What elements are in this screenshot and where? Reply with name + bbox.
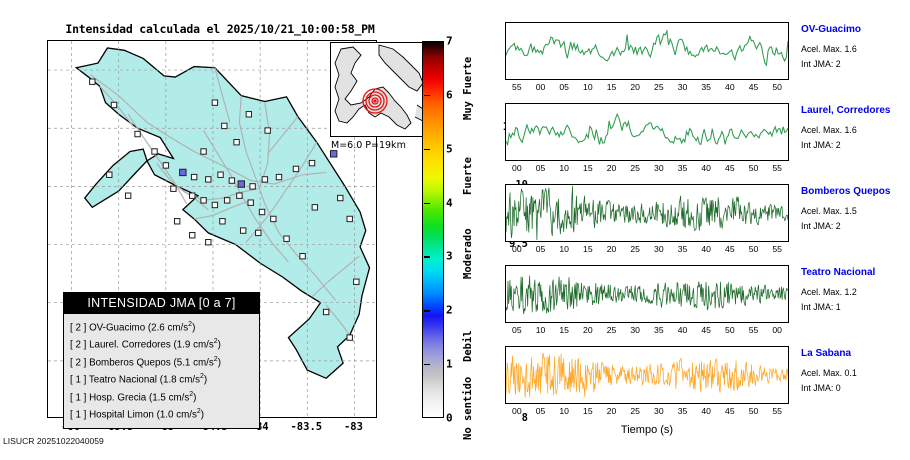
- waveform-x-tick: 00: [512, 244, 522, 254]
- waveform-panel[interactable]: [505, 346, 789, 404]
- legend-row-close: ): [218, 340, 221, 351]
- waveform-x-tick: 45: [749, 82, 759, 92]
- legend-row-close: ): [204, 375, 207, 386]
- waveform-x-tick: 35: [654, 325, 664, 335]
- legend-row-close: ): [193, 392, 196, 403]
- waveform-jma-intensity: Int JMA: 1: [801, 302, 841, 312]
- waveform-x-axis-label: Tiempo (s): [505, 424, 789, 436]
- legend-row-station: Hosp. Grecia: [86, 392, 146, 403]
- inset-graphic: [331, 43, 424, 136]
- legend-row-close: ): [192, 322, 195, 333]
- waveform-x-tick: 25: [630, 163, 640, 173]
- colorbar-tick: 7: [446, 35, 453, 48]
- waveform-x-tick: 55: [772, 406, 782, 416]
- waveform-trace: [506, 347, 788, 403]
- waveform-x-tick: 55: [772, 163, 782, 173]
- colorbar-tick: 1: [446, 358, 453, 371]
- waveform-x-tick: 45: [725, 244, 735, 254]
- waveform-jma-intensity: Int JMA: 2: [801, 140, 841, 150]
- legend-row-accel: (1.8 cm/s: [157, 375, 200, 386]
- map-y-tick: 8: [522, 412, 528, 424]
- legend-row-jma: [ 1 ]: [70, 375, 86, 386]
- waveform-x-tick: 55: [772, 244, 782, 254]
- waveform-x-tick: 10: [559, 244, 569, 254]
- waveform-x-tick: 20: [630, 82, 640, 92]
- waveform-jma-intensity: Int JMA: 2: [801, 59, 841, 69]
- waveform-station-name: Bomberos Quepos: [801, 186, 890, 197]
- waveform-x-tick: 00: [772, 325, 782, 335]
- legend-row-accel: (1.9 cm/s: [171, 340, 214, 351]
- waveform-x-tick: 15: [559, 325, 569, 335]
- legend-row-accel: (5.1 cm/s: [171, 357, 214, 368]
- legend-row-accel: (1.5 cm/s: [146, 392, 189, 403]
- waveform-peak-acceleration: Acel. Max. 1.6: [801, 44, 857, 54]
- legend-row: [ 2 ] OV-Guacimo (2.6 cm/s2): [70, 318, 259, 335]
- colorbar-tick: 4: [446, 196, 453, 209]
- waveform-x-tick: 00: [512, 163, 522, 173]
- legend-row: [ 1 ] Teatro Nacional (1.8 cm/s2): [70, 370, 259, 387]
- waveform-x-tick: 25: [607, 325, 617, 335]
- waveform-x-tick: 40: [678, 325, 688, 335]
- waveform-x-tick: 50: [749, 406, 759, 416]
- legend-row: [ 2 ] Laurel. Corredores (1.9 cm/s2): [70, 335, 259, 352]
- waveform-x-tick: 10: [536, 325, 546, 335]
- legend-row-accel: (2.6 cm/s: [145, 322, 188, 333]
- colorbar-category-label: Debil: [462, 331, 474, 363]
- legend-row-station: Teatro Nacional: [86, 375, 157, 386]
- waveform-x-tick: 05: [512, 325, 522, 335]
- inset-locator-map[interactable]: [330, 42, 425, 137]
- waveform-x-tick: 05: [559, 82, 569, 92]
- waveform-x-tick: 30: [678, 82, 688, 92]
- legend-row: [ 1 ] Hosp. Grecia (1.5 cm/s2): [70, 388, 259, 405]
- waveform-x-tick: 40: [701, 244, 711, 254]
- waveform-peak-acceleration: Acel. Max. 1.2: [801, 287, 857, 297]
- waveform-x-tick: 25: [630, 406, 640, 416]
- colorbar-tick: 6: [446, 88, 453, 101]
- map-title: Intensidad calculada el 2025/10/21_10:00…: [0, 22, 440, 36]
- waveform-station-name: OV-Guacimo: [801, 24, 861, 35]
- waveform-panel[interactable]: [505, 265, 789, 323]
- legend-row-jma: [ 2 ]: [70, 322, 86, 333]
- waveform-x-tick: 25: [630, 244, 640, 254]
- waveform-x-tick: 35: [701, 82, 711, 92]
- waveform-jma-intensity: Int JMA: 0: [801, 383, 841, 393]
- waveform-station-name: La Sabana: [801, 348, 851, 359]
- colorbar-category-label: No sentido: [462, 377, 474, 440]
- legend-title: INTENSIDAD JMA [0 a 7]: [64, 293, 259, 314]
- waveform-x-tick: 10: [559, 163, 569, 173]
- waveform-x-tick: 05: [536, 163, 546, 173]
- waveform-x-tick: 45: [701, 325, 711, 335]
- waveform-x-tick: 20: [607, 163, 617, 173]
- colorbar-tick-dash: [424, 203, 430, 204]
- legend-row-jma: [ 2 ]: [70, 340, 86, 351]
- waveform-station-name: Teatro Nacional: [801, 267, 875, 278]
- waveform-trace: [506, 185, 788, 241]
- waveform-panel[interactable]: [505, 103, 789, 161]
- legend-row-station: Laurel. Corredores: [86, 340, 170, 351]
- legend-rows: [ 2 ] OV-Guacimo (2.6 cm/s2)[ 2 ] Laurel…: [64, 314, 259, 428]
- waveform-x-tick: 40: [725, 82, 735, 92]
- waveform-x-tick: 10: [559, 406, 569, 416]
- colorbar-tick: 5: [446, 142, 453, 155]
- legend-row-close: ): [201, 410, 204, 421]
- intensity-legend: INTENSIDAD JMA [0 a 7] [ 2 ] OV-Guacimo …: [63, 292, 260, 429]
- waveform-x-tick: 30: [654, 244, 664, 254]
- legend-row-close: ): [218, 357, 221, 368]
- waveform-x-tick: 55: [749, 325, 759, 335]
- waveform-x-tick: 35: [678, 244, 688, 254]
- waveform-x-tick: 05: [536, 406, 546, 416]
- waveform-x-tick: 30: [654, 163, 664, 173]
- waveform-x-tick: 50: [749, 244, 759, 254]
- waveform-x-tick: 20: [607, 244, 617, 254]
- colorbar-tick: 3: [446, 250, 453, 263]
- legend-row-jma: [ 1 ]: [70, 392, 86, 403]
- waveform-panel[interactable]: [505, 184, 789, 242]
- legend-row: [ 2 ] Bomberos Quepos (5.1 cm/s2): [70, 353, 259, 370]
- colorbar-tick-dash: [424, 256, 430, 257]
- waveform-x-tick: 40: [701, 406, 711, 416]
- waveform-trace: [506, 266, 788, 322]
- map-x-tick: -83.5: [290, 421, 322, 433]
- legend-row-station: OV-Guacimo: [86, 322, 145, 333]
- waveform-x-tick: 30: [630, 325, 640, 335]
- waveform-trace: [506, 104, 788, 160]
- legend-row-jma: [ 2 ]: [70, 357, 86, 368]
- colorbar-tick: 0: [446, 412, 453, 425]
- waveform-panel[interactable]: [505, 22, 789, 80]
- waveform-x-tick: 15: [583, 163, 593, 173]
- intensity-colorbar: [422, 41, 444, 418]
- waveform-x-tick: 35: [678, 406, 688, 416]
- waveform-x-tick: 15: [583, 406, 593, 416]
- legend-row-jma: [ 1 ]: [70, 410, 86, 421]
- waveform-station-name: Laurel, Corredores: [801, 105, 890, 116]
- waveform-jma-intensity: Int JMA: 2: [801, 221, 841, 231]
- waveform-x-tick: 20: [583, 325, 593, 335]
- waveform-peak-acceleration: Acel. Max. 1.6: [801, 125, 857, 135]
- watermark: LISUCR 20251022040059: [3, 436, 104, 446]
- colorbar-tick-dash: [424, 149, 430, 150]
- waveform-x-tick: 50: [725, 325, 735, 335]
- colorbar-tick: 2: [446, 304, 453, 317]
- waveform-x-tick: 00: [512, 406, 522, 416]
- map-x-tick: -83: [344, 421, 363, 433]
- legend-row-station: Hospital Limon: [86, 410, 154, 421]
- colorbar-tick-dash: [424, 95, 430, 96]
- waveform-x-tick: 05: [536, 244, 546, 254]
- waveform-x-tick: 55: [512, 82, 522, 92]
- colorbar-tick-dash: [424, 364, 430, 365]
- waveform-x-tick: 50: [772, 82, 782, 92]
- waveform-x-tick: 10: [583, 82, 593, 92]
- waveform-x-tick: 30: [654, 406, 664, 416]
- colorbar-category-label: Moderado: [462, 228, 474, 279]
- waveform-x-tick: 25: [654, 82, 664, 92]
- legend-row-accel: (1.0 cm/s: [154, 410, 197, 421]
- waveform-peak-acceleration: Acel. Max. 0.1: [801, 368, 857, 378]
- colorbar-tick-dash: [424, 310, 430, 311]
- waveform-x-tick: 45: [725, 163, 735, 173]
- waveform-x-tick: 15: [607, 82, 617, 92]
- legend-row: [ 1 ] Hospital Limon (1.0 cm/s2): [70, 405, 259, 422]
- waveform-x-tick: 15: [583, 244, 593, 254]
- waveform-x-tick: 35: [678, 163, 688, 173]
- event-magnitude-annotation: M=6.0 P=19km: [331, 140, 406, 151]
- waveform-x-tick: 40: [701, 163, 711, 173]
- waveform-peak-acceleration: Acel. Max. 1.5: [801, 206, 857, 216]
- waveform-x-tick: 45: [725, 406, 735, 416]
- waveform-trace: [506, 23, 788, 79]
- colorbar-category-label: Fuerte: [462, 157, 474, 195]
- legend-row-station: Bomberos Quepos: [86, 357, 170, 368]
- waveform-x-tick: 00: [536, 82, 546, 92]
- waveform-x-tick: 20: [607, 406, 617, 416]
- colorbar-category-label: Muy Fuerte: [462, 57, 474, 120]
- waveform-x-tick: 50: [749, 163, 759, 173]
